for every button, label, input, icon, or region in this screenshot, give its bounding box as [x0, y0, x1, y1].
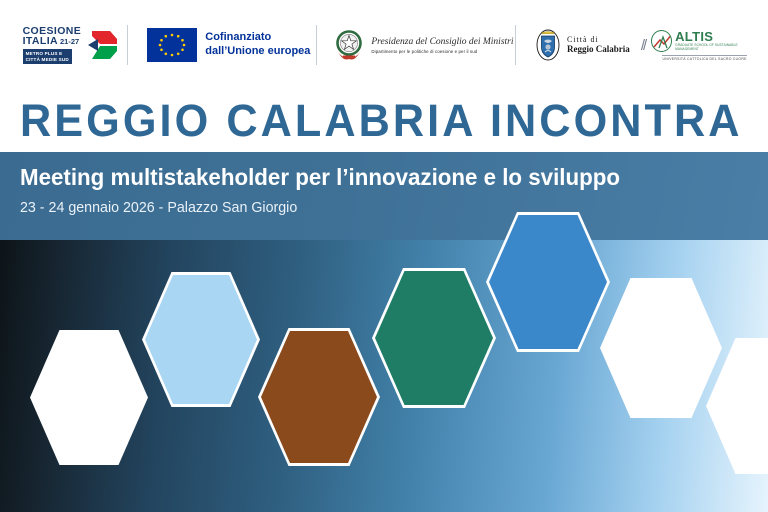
citta-line1: Città di [567, 35, 630, 44]
coesione-programme-box: METRO PLUS E CITTÀ MEDIE SUD [23, 49, 72, 64]
citta-line2: Reggio Calabria [567, 44, 630, 54]
eu-line2: dall’Unione europea [205, 45, 310, 59]
altis-tagline: GRADUATE SCHOOL OF SUSTAINABLE MANAGEMEN… [675, 44, 758, 50]
presidenza-line1: Presidenza del Consiglio dei Ministri [371, 37, 513, 47]
italian-republic-emblem-icon [334, 28, 364, 62]
presidenza-line2: Dipartimento per le politiche di coesion… [371, 49, 513, 54]
coesione-line2: ITALIA [23, 36, 58, 47]
title-band: REGGIO CALABRIA INCONTRA [0, 90, 768, 152]
coesione-box-line1: METRO PLUS E [26, 51, 69, 57]
eu-caption: Cofinanziato dall’Unione europea [205, 31, 310, 59]
coesione-years: 21-27 [60, 38, 79, 46]
logo-presidenza-consiglio-ministri: Presidenza del Consiglio dei Ministri Di… [317, 28, 515, 62]
event-poster: COESIONE ITALIA 21-27 METRO PLUS E CITTÀ… [0, 0, 768, 512]
subtitle-band: Meeting multistakeholder per l’innovazio… [0, 152, 768, 240]
logo-unione-europea: Cofinanziato dall’Unione europea [128, 28, 316, 62]
page-title: REGGIO CALABRIA INCONTRA [20, 95, 743, 147]
eu-line1: Cofinanziato [205, 31, 310, 45]
altis-circle-icon [651, 30, 672, 52]
altis-name: ALTIS [675, 30, 758, 43]
logo-altis: ALTIS GRADUATE SCHOOL OF SUSTAINABLE MAN… [651, 30, 758, 61]
hexagon-background [0, 240, 768, 512]
eu-flag-icon [147, 28, 197, 62]
reggio-calabria-coat-of-arms-icon [535, 28, 561, 62]
coesione-arrow-mark-icon [84, 30, 118, 60]
event-date-venue: 23 - 24 gennaio 2026 - Palazzo San Giorg… [20, 199, 731, 216]
logo-slash-separator: // [641, 37, 645, 54]
logo-citta-reggio-calabria: Città di Reggio Calabria [516, 28, 635, 62]
event-subtitle: Meeting multistakeholder per l’innovazio… [20, 164, 746, 190]
altis-footer: UNIVERSITÀ CATTOLICA DEL SACRO CUORE [662, 55, 746, 61]
coesione-box-line2: CITTÀ MEDIE SUD [26, 57, 69, 63]
logo-coesione-italia: COESIONE ITALIA 21-27 METRO PLUS E CITTÀ… [10, 26, 127, 64]
sponsor-logo-bar: COESIONE ITALIA 21-27 METRO PLUS E CITTÀ… [0, 0, 768, 90]
